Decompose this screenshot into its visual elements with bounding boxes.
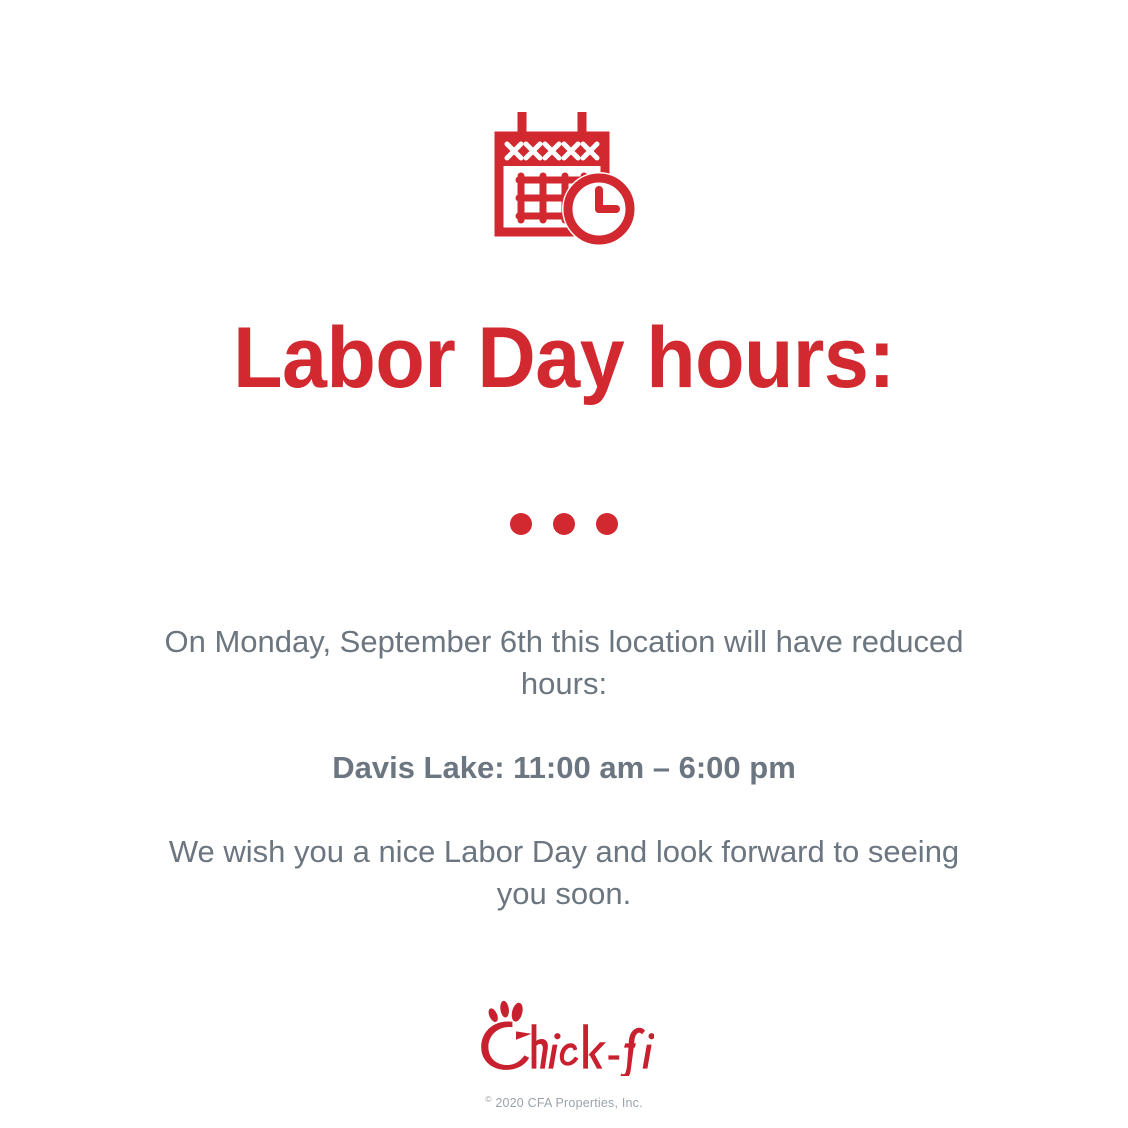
- copyright-notice: © 2020 CFA Properties, Inc.: [485, 1094, 643, 1110]
- labor-day-hours-poster: Labor Day hours: On Monday, September 6t…: [0, 0, 1128, 1128]
- message-body: On Monday, September 6th this location w…: [164, 590, 964, 946]
- three-dot-divider: [510, 512, 618, 536]
- calendar-clock-icon: [489, 112, 639, 247]
- brand-footer: © 2020 CFA Properties, Inc.: [0, 1000, 1128, 1110]
- divider-dot: [553, 513, 575, 535]
- intro-text: On Monday, September 6th this location w…: [164, 621, 964, 705]
- hours-text: Davis Lake: 11:00 am – 6:00 pm: [164, 747, 964, 789]
- page-title: Labor Day hours:: [233, 315, 895, 403]
- chick-fil-a-logo: [474, 1000, 654, 1076]
- divider-dot: [510, 513, 532, 535]
- divider-dot: [596, 513, 618, 535]
- closing-text: We wish you a nice Labor Day and look fo…: [164, 831, 964, 915]
- copyright-text: 2020 CFA Properties, Inc.: [492, 1096, 643, 1110]
